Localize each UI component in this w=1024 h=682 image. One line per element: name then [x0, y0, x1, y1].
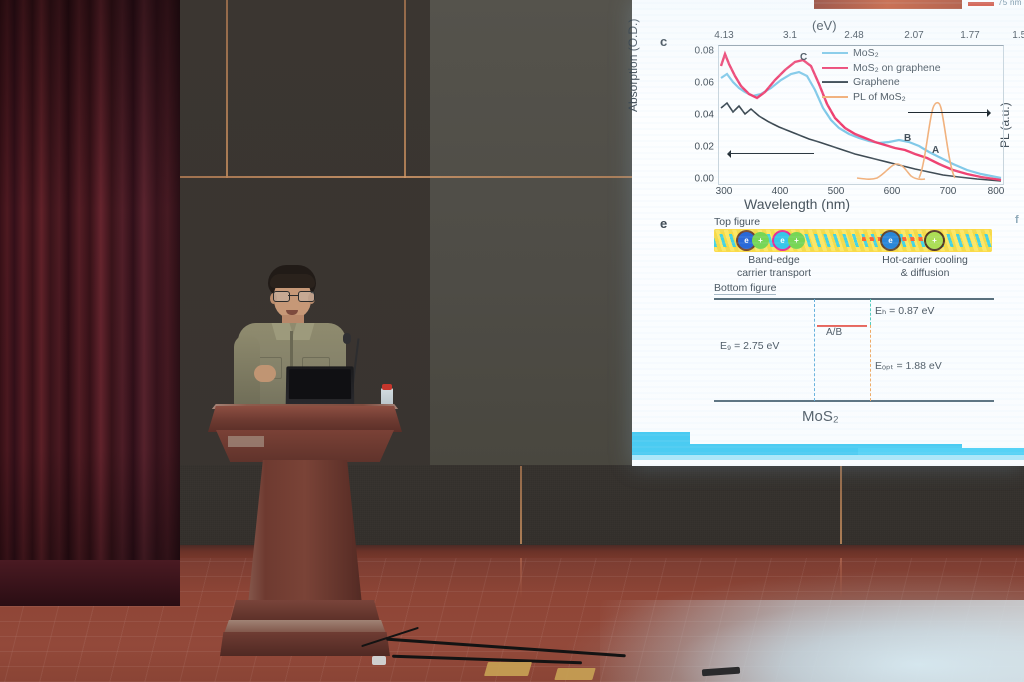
- slide-bottom-blue-band: [632, 432, 1024, 462]
- legend-label-3: PL of MoS₂: [853, 90, 906, 105]
- ev-tick-4: 1.77: [960, 30, 979, 41]
- curtain-hem: [0, 560, 180, 606]
- podium-base-middle: [224, 620, 386, 634]
- peak-label-b: B: [904, 133, 911, 144]
- wall-trim-horizontal-upper: [176, 176, 632, 178]
- top-axis-ticks: 4.13 3.1 2.48 2.07 1.77 1.55: [692, 30, 1014, 44]
- curve-graphene: [721, 103, 1001, 181]
- eb-label: Eₕ = 0.87 eV: [875, 305, 934, 317]
- ev-tick-5: 1.55: [1012, 30, 1024, 41]
- legend-swatch-mos2: [822, 52, 848, 54]
- y-tick-1: 0.06: [695, 78, 714, 89]
- floor-tape-2: [554, 668, 595, 680]
- glasses-lens-left: [273, 291, 290, 302]
- y-tick-2: 0.04: [695, 110, 714, 121]
- y-tick-3: 0.02: [695, 142, 714, 153]
- blue-band-seg-4: [632, 455, 1024, 460]
- ev-tick-1: 3.1: [783, 30, 797, 41]
- wall-trim-vertical-a: [226, 0, 228, 178]
- scale-bar-label: 75 nm: [998, 0, 1022, 7]
- peak-label-c: C: [800, 52, 807, 63]
- podium-nameplate: [228, 436, 264, 447]
- wall-trim-vertical-c: [520, 466, 522, 544]
- curtain-shading: [0, 0, 180, 600]
- projection-screen-unlit: [430, 0, 635, 465]
- wall-trim-vertical-d: [840, 466, 842, 544]
- y-axis-ticks: 0.08 0.06 0.04 0.02 0.00: [674, 45, 714, 183]
- x-tick-4: 700: [940, 186, 957, 197]
- peak-label-a: A: [932, 145, 939, 156]
- ev-tick-0: 4.13: [714, 30, 733, 41]
- x-axis-label: Wavelength (nm): [744, 196, 850, 212]
- x-tick-3: 600: [884, 186, 901, 197]
- floor-reflection-line-a: [520, 558, 522, 598]
- eg-arrow-line: [814, 299, 815, 401]
- material-label: MoS₂: [802, 408, 839, 425]
- legend-label-0: MoS₂: [853, 46, 879, 61]
- glasses-icon: [273, 291, 313, 301]
- presentation-photo: 75 nm c e f (eV) 4.13 3.1 2.48 2.07 1.77…: [0, 0, 1024, 682]
- podium-top: [208, 406, 402, 432]
- speaker-hand: [254, 365, 276, 382]
- floor-tape-1: [484, 662, 532, 676]
- floor-connector: [372, 656, 386, 665]
- eopt-label: Eₒₚₜ = 1.88 eV: [875, 360, 942, 372]
- laptop-screen: [289, 369, 351, 399]
- legend-label-2: Graphene: [853, 75, 900, 90]
- bottom-figure-label: Bottom figure: [714, 282, 776, 295]
- ab-level-label: A/B: [826, 327, 842, 338]
- panel-label-e: e: [660, 216, 667, 231]
- y-tick-0: 0.08: [695, 46, 714, 57]
- microphone-icon: [343, 333, 351, 344]
- legend-item-0: MoS₂: [822, 46, 941, 61]
- speaker-hair-front: [270, 274, 315, 288]
- podium-base-upper: [230, 600, 380, 622]
- legend-swatch-mos2-graphene: [822, 67, 848, 69]
- floor-light-reflection-secondary: [600, 600, 1024, 682]
- wall-trim-vertical-b: [404, 0, 406, 178]
- eopt-arrow-line: [870, 325, 871, 401]
- podium-column: [243, 460, 367, 605]
- carrier-electron-3: e: [882, 232, 899, 249]
- carrier-hole-3: +: [926, 232, 943, 249]
- scale-bar: [968, 2, 994, 6]
- legend-item-3: PL of MoS₂: [822, 90, 941, 105]
- laptop: [286, 366, 355, 406]
- carrier-hole-1: +: [752, 232, 769, 249]
- top-figure-label: Top figure: [714, 216, 760, 228]
- right-axis-arrow: [908, 112, 990, 113]
- legend-swatch-graphene: [822, 81, 848, 83]
- band-edge-transport-label: Band-edge carrier transport: [716, 254, 832, 279]
- carrier-hole-2: +: [788, 232, 805, 249]
- legend-swatch-pl: [822, 96, 848, 98]
- legend-item-1: MoS₂ on graphene: [822, 61, 941, 76]
- stage-curtain: [0, 0, 180, 600]
- legend-label-1: MoS₂ on graphene: [853, 61, 941, 76]
- panel-label-f: f: [1015, 214, 1019, 226]
- eb-arrow-line: [870, 299, 871, 325]
- glasses-lens-right: [298, 291, 315, 302]
- blue-band-seg-1: [632, 432, 690, 444]
- hot-carrier-cooling-label: Hot-carrier cooling & diffusion: [860, 254, 990, 279]
- eg-label: E₉ = 2.75 eV: [720, 340, 779, 352]
- energy-level-top: [714, 298, 994, 300]
- left-axis-arrow: [728, 153, 814, 154]
- projected-slide: 75 nm c e f (eV) 4.13 3.1 2.48 2.07 1.77…: [632, 0, 1024, 466]
- y-axis-label: Absorption (O.D.): [626, 19, 640, 112]
- x-tick-0: 300: [716, 186, 733, 197]
- energy-level-bottom: [714, 400, 994, 402]
- plot-legend: MoS₂ MoS₂ on graphene Graphene PL of MoS…: [822, 46, 941, 104]
- ev-tick-3: 2.07: [904, 30, 923, 41]
- glasses-bridge: [288, 295, 298, 296]
- floor-reflection-line-b: [840, 558, 842, 598]
- panel-label-c: c: [660, 34, 667, 49]
- legend-item-2: Graphene: [822, 75, 941, 90]
- water-bottle-cap: [382, 384, 392, 390]
- x-tick-5: 800: [988, 186, 1005, 197]
- ev-tick-2: 2.48: [844, 30, 863, 41]
- y-tick-4: 0.00: [695, 174, 714, 185]
